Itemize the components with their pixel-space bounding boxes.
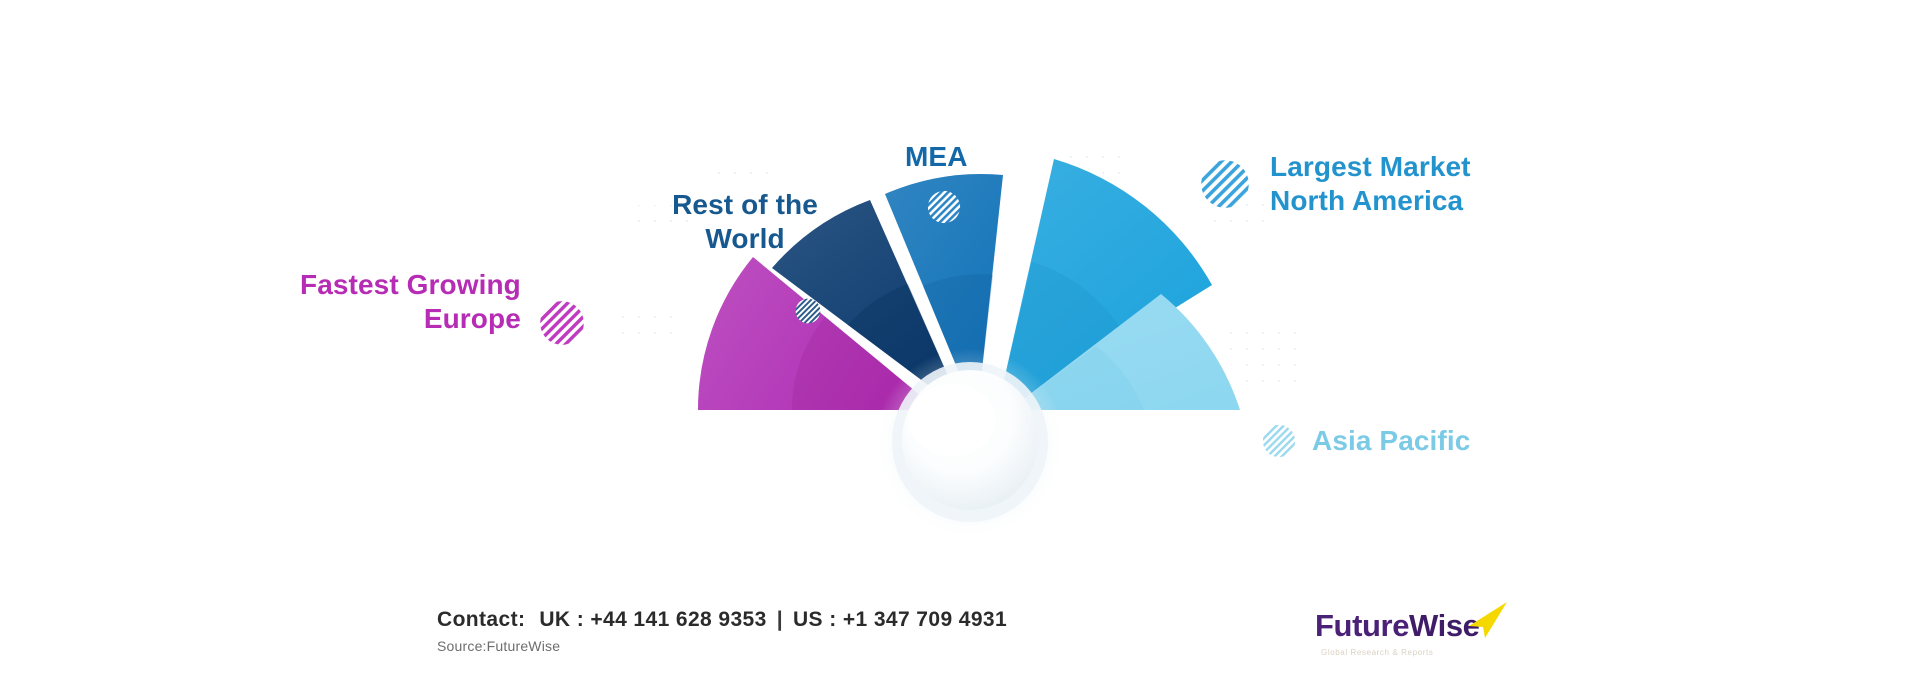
callout-mea[interactable]: MEA: [905, 140, 968, 174]
uk-label: UK :: [539, 608, 584, 631]
callout-europe-line2: Europe: [300, 302, 521, 336]
footer: Contact:UK : +44 141 628 9353|US : +1 34…: [0, 594, 1920, 684]
callout-europe[interactable]: Fastest Growing Europe: [300, 258, 585, 346]
callout-asia-pacific[interactable]: Asia Pacific: [1262, 424, 1470, 458]
contact-label: Contact:: [437, 608, 525, 631]
callout-north-america-text: Largest Market North America: [1270, 150, 1471, 218]
uk-phone: +44 141 628 9353: [590, 608, 766, 631]
callout-rest-of-world[interactable]: Rest of the World: [640, 188, 850, 256]
callout-europe-text: Fastest Growing Europe: [300, 268, 521, 336]
logo-wordmark: FutureWise: [1315, 608, 1480, 644]
futurewise-logo[interactable]: FutureWise Global Research & Reports: [1315, 600, 1505, 672]
callout-north-america-line2: North America: [1270, 184, 1471, 218]
logo-word-future: Future: [1315, 608, 1409, 643]
contact-separator: |: [777, 608, 783, 631]
hatched-circle-magenta-icon: [539, 300, 585, 346]
infographic-canvas: Fastest Growing Europe Rest of the World: [0, 0, 1920, 684]
hatched-circle-blue-icon: [927, 190, 961, 224]
chart-center-hub: [874, 348, 1066, 540]
callout-north-america[interactable]: Largest Market North America: [1200, 150, 1471, 218]
source-line: Source:FutureWise: [437, 638, 560, 654]
callout-asia-pacific-text: Asia Pacific: [1312, 424, 1470, 458]
callout-mea-line1: MEA: [905, 140, 968, 174]
callout-mea-text: MEA: [905, 140, 968, 174]
callout-rest-of-world-line2: World: [640, 222, 850, 256]
us-phone: +1 347 709 4931: [843, 608, 1007, 631]
contact-line: Contact:UK : +44 141 628 9353|US : +1 34…: [437, 608, 1007, 632]
callout-rest-of-world-text: Rest of the World: [640, 188, 850, 256]
callout-rest-of-world-line1: Rest of the: [640, 188, 850, 222]
hatched-circle-navy-icon: [795, 298, 821, 324]
logo-tagline: Global Research & Reports: [1321, 648, 1433, 657]
hatched-circle-lightblue-icon: [1262, 424, 1296, 458]
callout-north-america-line1: Largest Market: [1270, 150, 1471, 184]
callout-asia-pacific-line1: Asia Pacific: [1312, 424, 1470, 458]
us-label: US :: [793, 608, 837, 631]
hatched-circle-skyblue-icon: [1200, 159, 1250, 209]
callout-europe-line1: Fastest Growing: [300, 268, 521, 302]
logo-arrow-icon: [1463, 600, 1509, 640]
